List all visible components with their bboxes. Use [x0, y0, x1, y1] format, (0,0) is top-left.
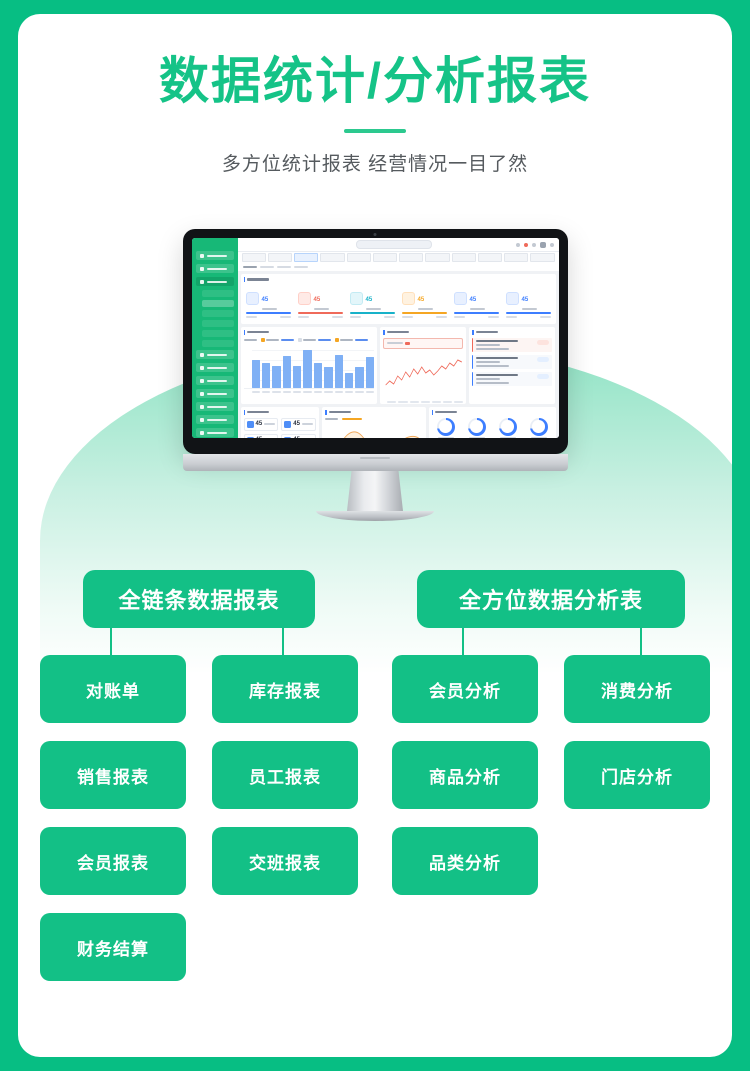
lock-icon	[284, 421, 291, 428]
title-divider	[344, 129, 406, 133]
tree-column-right: 全方位数据分析表 会员分析 消费分析 商品分析 门店分析 品类分析	[392, 570, 710, 981]
monitor-chin	[183, 454, 568, 471]
report-button-placeholder	[564, 827, 710, 895]
mid-row	[241, 327, 556, 404]
report-button[interactable]: 交班报表	[212, 827, 358, 895]
dashboard-topbar	[238, 238, 559, 251]
gauge[interactable]	[525, 418, 553, 439]
report-button[interactable]: 销售报表	[40, 741, 186, 809]
connector-left	[40, 628, 358, 655]
monitor-screen: 45 45 45	[192, 238, 559, 438]
tab[interactable]	[320, 253, 344, 262]
kpi-card[interactable]: 45	[348, 285, 397, 321]
stat-tile[interactable]: 45	[244, 434, 279, 439]
report-button[interactable]: 会员分析	[392, 655, 538, 723]
monitor-mockup: 45 45 45	[18, 229, 732, 521]
report-button[interactable]: 对账单	[40, 655, 186, 723]
monitor-bezel: 45 45 45	[183, 229, 568, 454]
report-button[interactable]: 商品分析	[392, 741, 538, 809]
bottom-row: 45 45 45 45 45 45	[241, 407, 556, 439]
connector-right	[392, 628, 710, 655]
report-button[interactable]: 员工报表	[212, 741, 358, 809]
area-chart	[325, 422, 423, 439]
tab[interactable]	[347, 253, 371, 262]
report-button[interactable]: 品类分析	[392, 827, 538, 895]
list-item[interactable]	[472, 338, 552, 353]
gauge-panel	[429, 407, 556, 439]
menu-icon	[200, 418, 204, 422]
menu-icon	[200, 353, 204, 357]
sidebar-subitem-active[interactable]	[202, 300, 234, 307]
trend-panel	[380, 327, 466, 404]
sidebar-subitem[interactable]	[202, 330, 234, 337]
sidebar-subitem[interactable]	[202, 320, 234, 327]
menu-icon	[200, 267, 204, 271]
menu-icon	[200, 280, 204, 284]
status-badge	[537, 357, 549, 362]
kpi-card[interactable]: 45	[400, 285, 449, 321]
sidebar-item[interactable]	[196, 363, 234, 372]
report-button[interactable]: 消费分析	[564, 655, 710, 723]
list-item[interactable]	[472, 355, 552, 370]
legend-swatch	[298, 338, 302, 342]
sidebar-item[interactable]	[196, 376, 234, 385]
tree-column-left: 全链条数据报表 对账单 库存报表 销售报表 员工报表 会员报表 交班报表 财务结…	[40, 570, 358, 981]
alert-icon	[298, 292, 311, 305]
report-button-placeholder	[212, 913, 358, 981]
dashboard-content: 45 45 45	[238, 271, 559, 438]
sidebar-item[interactable]	[196, 264, 234, 273]
page-subtitle: 多方位统计报表 经营情况一目了然	[18, 149, 732, 176]
report-tree: 全链条数据报表 对账单 库存报表 销售报表 员工报表 会员报表 交班报表 财务结…	[18, 570, 732, 981]
stat-tile[interactable]: 45	[281, 418, 316, 431]
stat-tiles-panel: 45 45 45 45 45 45	[241, 407, 320, 439]
home-icon	[246, 292, 259, 305]
kpi-panel: 45 45 45	[241, 274, 556, 324]
tab-active[interactable]	[294, 253, 318, 262]
dashboard-main: 45 45 45	[238, 238, 559, 438]
group-heading-right[interactable]: 全方位数据分析表	[417, 570, 685, 628]
gauge-grid	[432, 418, 553, 439]
gear-icon	[200, 405, 204, 409]
sidebar-subitem[interactable]	[202, 340, 234, 347]
store-icon	[247, 421, 254, 428]
tab[interactable]	[478, 253, 502, 262]
kpi-card[interactable]: 45	[452, 285, 501, 321]
tab[interactable]	[373, 253, 397, 262]
gauge[interactable]	[463, 418, 491, 439]
tab[interactable]	[425, 253, 449, 262]
plane-icon	[284, 437, 291, 439]
legend-swatch	[335, 338, 339, 342]
stat-tile[interactable]: 45	[244, 418, 279, 431]
avatar[interactable]	[540, 242, 546, 248]
bell-icon[interactable]	[516, 243, 520, 247]
sidebar-item[interactable]	[196, 389, 234, 398]
tab[interactable]	[242, 253, 266, 262]
bar-chart	[244, 344, 375, 389]
menu-icon	[200, 392, 204, 396]
tab[interactable]	[530, 253, 554, 262]
download-icon	[247, 437, 254, 439]
notification-panel	[469, 327, 555, 404]
gauge[interactable]	[432, 418, 460, 439]
breadcrumb-item[interactable]	[260, 266, 274, 268]
area-chart-panel	[322, 407, 426, 439]
sidebar-item[interactable]	[196, 428, 234, 437]
group-heading-left[interactable]: 全链条数据报表	[83, 570, 315, 628]
rocket-icon	[402, 292, 415, 305]
tab[interactable]	[504, 253, 528, 262]
webcam-icon	[374, 233, 377, 236]
chevron-down-icon[interactable]	[550, 243, 554, 247]
sidebar-item[interactable]	[196, 350, 234, 359]
menu-icon	[200, 254, 204, 258]
status-badge	[537, 374, 549, 379]
line-chart	[383, 351, 463, 401]
report-button[interactable]: 会员报表	[40, 827, 186, 895]
button-grid-right: 会员分析 消费分析 商品分析 门店分析 品类分析	[392, 655, 710, 895]
report-button[interactable]: 库存报表	[212, 655, 358, 723]
user-icon	[454, 292, 467, 305]
notification-list[interactable]	[472, 338, 552, 387]
report-button[interactable]: 门店分析	[564, 741, 710, 809]
kpi-card[interactable]: 45	[296, 285, 345, 321]
monitor-stand-neck	[347, 471, 403, 511]
legend-swatch	[261, 338, 265, 342]
chart-legend[interactable]	[244, 338, 375, 342]
alert-icon[interactable]	[524, 243, 528, 247]
sidebar-item-active[interactable]	[196, 277, 234, 286]
search-input[interactable]	[356, 240, 432, 249]
button-grid-left: 对账单 库存报表 销售报表 员工报表 会员报表 交班报表 财务结算	[40, 655, 358, 981]
page-title: 数据统计/分析报表	[18, 54, 732, 109]
briefcase-icon	[350, 292, 363, 305]
bar-chart-panel	[241, 327, 378, 404]
tab[interactable]	[268, 253, 292, 262]
panel-title	[244, 277, 553, 282]
gauge[interactable]	[494, 418, 522, 439]
breadcrumb[interactable]	[238, 263, 559, 271]
status-badge	[537, 340, 549, 345]
menu-icon	[200, 366, 204, 370]
monitor-stand-base	[316, 511, 434, 521]
grid-icon[interactable]	[532, 243, 536, 247]
sidebar-subitem[interactable]	[202, 310, 234, 317]
sidebar-item[interactable]	[196, 251, 234, 260]
kpi-row: 45 45 45	[244, 285, 553, 321]
sidebar-subitem[interactable]	[202, 290, 234, 297]
kpi-card[interactable]: 45	[504, 285, 553, 321]
tab[interactable]	[399, 253, 423, 262]
highlight-box	[383, 338, 463, 349]
stat-tile[interactable]: 45	[281, 434, 316, 439]
menu-icon	[200, 379, 204, 383]
bar-chart-xaxis	[244, 391, 375, 393]
sidebar-item[interactable]	[196, 402, 234, 411]
stat-grid: 45 45 45 45 45 45	[244, 418, 317, 439]
tab-strip[interactable]	[238, 251, 559, 263]
breadcrumb-item[interactable]	[277, 266, 291, 268]
list-item[interactable]	[472, 372, 552, 387]
tab[interactable]	[452, 253, 476, 262]
gear-icon	[200, 431, 204, 435]
kpi-card[interactable]: 45	[244, 285, 293, 321]
breadcrumb-item[interactable]	[243, 266, 257, 268]
sidebar-item[interactable]	[196, 415, 234, 424]
hero-section: 数据统计/分析报表 多方位统计报表 经营情况一目了然	[18, 14, 732, 176]
report-button[interactable]: 财务结算	[40, 913, 186, 981]
truck-icon	[506, 292, 519, 305]
dashboard-sidebar[interactable]	[192, 238, 238, 438]
poster-card: 数据统计/分析报表 多方位统计报表 经营情况一目了然	[18, 14, 732, 1057]
breadcrumb-item[interactable]	[294, 266, 308, 268]
